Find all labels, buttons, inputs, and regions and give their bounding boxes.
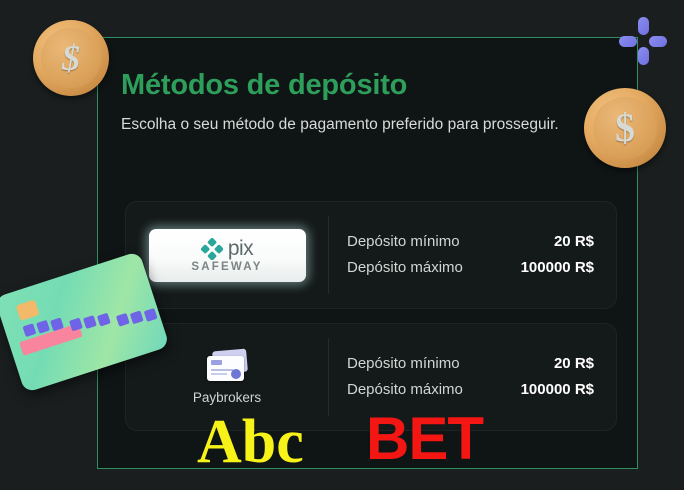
page-subtitle: Escolha o seu método de pagamento prefer… <box>121 112 571 137</box>
plus-bar-bottom <box>638 47 649 65</box>
deposit-min-label: Depósito mínimo <box>347 351 460 377</box>
deposit-max-value: 100000 R$ <box>521 377 594 403</box>
credit-cards-icon <box>205 350 249 383</box>
deposit-max-value: 100000 R$ <box>521 255 594 281</box>
deposit-min-line: Depósito mínimo 20 R$ <box>347 229 594 255</box>
plus-bar-left <box>619 36 637 47</box>
payment-method-row-pix[interactable]: pix SAFEWAY Depósito mínimo 20 R$ Depósi… <box>125 201 617 309</box>
dollar-sign-icon: $ <box>615 104 635 151</box>
overlay-bet-text: BET <box>366 409 483 469</box>
pix-wordmark: pix <box>228 239 253 259</box>
pix-logo-icon: pix SAFEWAY <box>149 229 306 282</box>
pix-diamond-icon <box>201 238 223 260</box>
method-divider <box>328 338 329 416</box>
card-stripe-shape <box>211 360 222 365</box>
page-title: Métodos de depósito <box>121 68 591 102</box>
gold-coin-icon: $ <box>33 20 109 96</box>
coin-inner-shape: $ <box>593 97 657 159</box>
deposit-max-label: Depósito máximo <box>347 255 463 281</box>
card-digit-block <box>116 313 130 327</box>
deposit-max-line: Depósito máximo 100000 R$ <box>347 255 594 281</box>
card-digit-block <box>97 313 111 327</box>
card-line-shape-2 <box>211 373 227 375</box>
pix-safeway-label: SAFEWAY <box>191 261 262 273</box>
card-front-shape <box>207 356 244 381</box>
plus-bar-top <box>638 17 649 35</box>
card-digit-block <box>23 323 37 337</box>
coin-outer-shape: $ <box>33 20 109 96</box>
card-digit-block <box>36 320 50 334</box>
heading-block: Métodos de depósito Escolha o seu método… <box>121 68 591 137</box>
deposit-min-value: 20 R$ <box>554 229 594 255</box>
coin-inner-shape: $ <box>41 28 100 87</box>
deposit-min-line: Depósito mínimo 20 R$ <box>347 351 594 377</box>
pix-logo-top: pix <box>201 238 253 260</box>
method-figures-pix: Depósito mínimo 20 R$ Depósito máximo 10… <box>347 229 616 281</box>
method-divider <box>328 216 329 294</box>
method-figures-paybrokers: Depósito mínimo 20 R$ Depósito máximo 10… <box>347 351 616 403</box>
method-brand-pix: pix SAFEWAY <box>126 202 328 308</box>
dollar-sign-icon: $ <box>62 37 80 79</box>
deposit-max-line: Depósito máximo 100000 R$ <box>347 377 594 403</box>
overlay-abc-text: Abc <box>197 411 304 473</box>
card-digit-block <box>83 315 97 329</box>
paybrokers-label: Paybrokers <box>193 390 261 405</box>
card-digit-block <box>130 310 144 324</box>
gold-coin-icon-2: $ <box>584 88 666 168</box>
deposit-min-value: 20 R$ <box>554 351 594 377</box>
card-dot-shape <box>231 369 241 379</box>
card-digit-block <box>144 308 158 322</box>
card-chip-shape <box>16 300 40 321</box>
card-digit-block <box>69 318 83 332</box>
deposit-max-label: Depósito máximo <box>347 377 463 403</box>
deposit-min-label: Depósito mínimo <box>347 229 460 255</box>
coin-outer-shape: $ <box>584 88 666 168</box>
plus-bar-right <box>649 36 667 47</box>
sparkle-plus-icon <box>618 16 668 66</box>
card-line-shape <box>211 369 233 371</box>
